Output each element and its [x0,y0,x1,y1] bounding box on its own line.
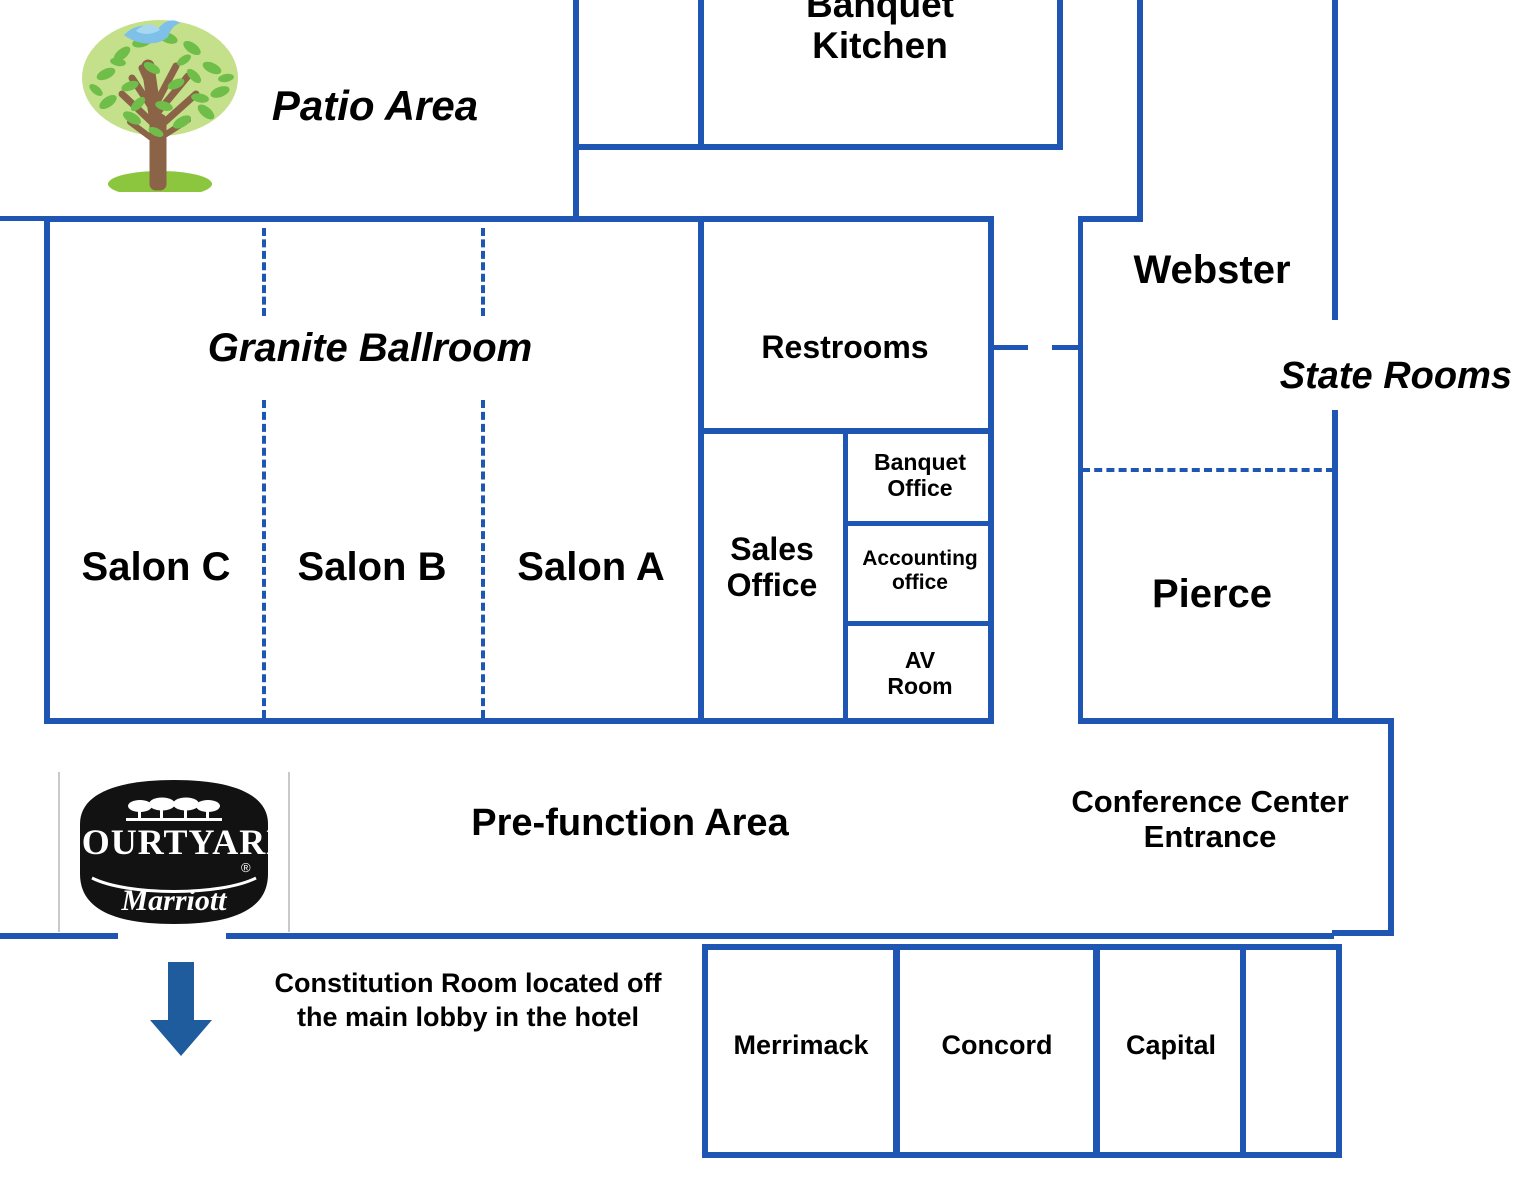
svg-text:®: ® [241,860,251,875]
room-label-merrimack: Merrimack [708,1030,894,1060]
wall-banquet-office-bottom [845,521,994,526]
wall-segment [44,216,994,222]
state-rooms-divider-dashed [1082,468,1334,472]
room-label-banquet-kitchen: Banquet Kitchen [700,0,1060,67]
floor-plan-canvas: Banquet Kitchen Patio Area Granite Ballr… [0,0,1519,1181]
room-label-pierce: Pierce [1090,572,1334,617]
room-label-capital: Capital [1100,1030,1242,1060]
svg-text:Marriott: Marriott [120,884,228,917]
room-label-av-room: AV Room [846,648,994,700]
wall-entrance-right [1388,718,1394,936]
wall-accounting-bottom [845,621,994,626]
door-stub [1052,345,1080,350]
salon-divider-dashed [262,400,266,718]
room-label-restrooms: Restrooms [700,330,990,366]
wall-segment [0,933,118,939]
down-arrow-icon [148,962,214,1056]
area-label-conference-center-entrance: Conference Center Entrance [1040,785,1380,854]
wall-state-rooms-bottom [1078,718,1338,724]
courtyard-marriott-logo: COURTYARD ® Marriott [58,772,290,932]
wall-state-rooms-right-lower [1332,410,1338,722]
room-label-salon-a: Salon A [487,545,695,590]
wall-bottom-rooms-right [1336,944,1342,1158]
room-label-webster: Webster [1090,248,1334,293]
salon-divider-dashed [481,400,485,718]
room-label-banquet-office: Banquet Office [846,450,994,502]
door-stub [994,345,1028,350]
wall-bottom-rooms-top [702,944,1342,950]
room-label-state-rooms: State Rooms [1222,355,1512,398]
salon-divider-dashed [481,228,485,316]
wall-segment [573,0,579,222]
room-label-granite-ballroom: Granite Ballroom [120,326,620,371]
wall-segment [226,933,1334,939]
room-label-concord: Concord [900,1030,1094,1060]
wall-ballroom-bottom [44,718,704,724]
room-label-salon-c: Salon C [52,545,260,590]
wall-segment [1080,216,1142,222]
wall-segment [1332,930,1394,936]
room-label-sales-office: Sales Office [700,532,844,604]
room-label-salon-b: Salon B [268,545,476,590]
salon-divider-dashed [262,228,266,316]
wall-bottom-rooms-bottom [702,1152,1342,1158]
room-label-accounting-office: Accounting office [846,547,994,594]
wall-ballroom-left [44,216,50,724]
wall-segment [1332,718,1394,724]
wall-ballroom-right [698,216,704,724]
area-label-prefunction: Pre-function Area [380,802,880,845]
wall-room-divider [893,944,900,1158]
wall-room-divider [1093,944,1100,1158]
room-label-patio-area: Patio Area [200,82,550,129]
wall-segment [1137,0,1143,222]
wall-segment [573,144,1063,150]
note-constitution-room: Constitution Room located off the main l… [258,967,678,1035]
svg-text:COURTYARD: COURTYARD [58,822,290,862]
